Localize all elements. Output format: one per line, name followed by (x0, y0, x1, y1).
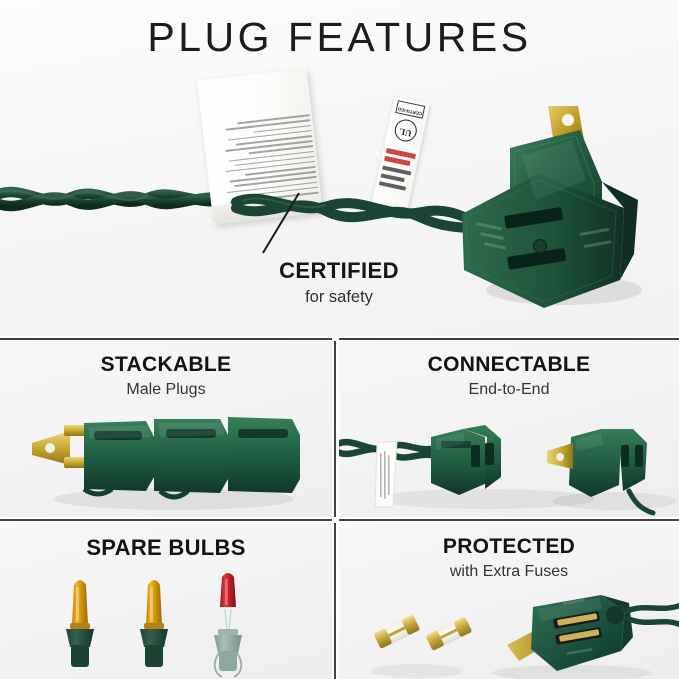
panel-protected-title: PROTECTED (339, 535, 679, 559)
divider-vertical-bottom (334, 523, 336, 679)
caution-heading: CAUTION (305, 68, 321, 88)
fuse-2 (425, 616, 472, 651)
panel-protected-subtitle: with Extra Fuses (339, 563, 679, 581)
divider-top-left (0, 338, 332, 340)
hero-panel: PLUG FEATURES (0, 0, 679, 336)
panel-connectable: CONNECTABLE End-to-End (339, 341, 679, 517)
ul-certified-box: CERTIFIED (395, 100, 425, 119)
ul-black-line-2 (381, 173, 405, 182)
panel-stackable-subtitle: Male Plugs (0, 381, 332, 399)
divider-top-right (339, 338, 679, 340)
panel-spare-bulbs-title: SPARE BULBS (0, 535, 332, 561)
page-title: PLUG FEATURES (0, 14, 679, 61)
divider-vertical-top (334, 341, 336, 517)
panel-protected: PROTECTED with Extra Fuses (339, 523, 679, 679)
stacked-male-plugs-icon (24, 403, 314, 513)
plug-features-infographic: PLUG FEATURES (0, 0, 679, 679)
ul-certified-label: CERTIFIED (397, 106, 423, 116)
end-to-end-plugs-icon (339, 407, 679, 515)
ul-mark-text: UL (395, 125, 417, 139)
amber-bulb-2 (140, 580, 168, 667)
panel-stackable: STACKABLE Male Plugs (0, 341, 332, 517)
plug-with-open-fuse-door (507, 595, 633, 671)
fuse-1 (373, 614, 420, 649)
panel-spare-bulbs: SPARE BULBS (0, 523, 332, 679)
divider-mid-left (0, 519, 332, 521)
certified-subcaption: for safety (224, 288, 454, 307)
green-plug-icon (452, 104, 658, 312)
certified-caption: CERTIFIED (224, 258, 454, 284)
ul-mark-icon: UL (393, 117, 419, 143)
fuses-and-plug-icon (357, 589, 679, 679)
panel-stackable-title: STACKABLE (0, 353, 332, 377)
amber-bulb-1 (66, 580, 94, 667)
divider-mid-right (339, 519, 679, 521)
spare-bulbs-icon (52, 567, 282, 679)
panel-connectable-title: CONNECTABLE (339, 353, 679, 377)
panel-connectable-subtitle: End-to-End (339, 381, 679, 399)
twisted-cord-icon (0, 176, 244, 220)
red-fuse-bulb (214, 573, 242, 677)
